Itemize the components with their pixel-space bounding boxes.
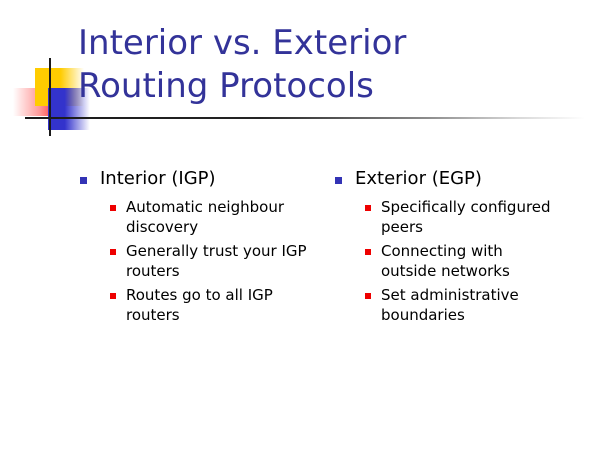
column-exterior: Exterior (EGP) Specifically configured p… — [335, 168, 600, 330]
slide-title: Interior vs. Exterior Routing Protocols — [78, 22, 568, 108]
bullet-list-exterior: Specifically configured peers Connecting… — [335, 198, 600, 325]
content-columns: Interior (IGP) Automatic neighbour disco… — [0, 168, 600, 330]
slide: Interior vs. Exterior Routing Protocols … — [0, 0, 600, 450]
list-item-label: Set administrative boundaries — [381, 286, 556, 325]
square-bullet-icon — [365, 249, 371, 255]
square-bullet-icon — [110, 205, 116, 211]
heading-label: Interior (IGP) — [100, 168, 216, 190]
list-item: Set administrative boundaries — [365, 286, 600, 325]
title-underline-rule — [25, 117, 585, 119]
list-item: Generally trust your IGP routers — [110, 242, 335, 281]
column-interior: Interior (IGP) Automatic neighbour disco… — [0, 168, 335, 330]
square-bullet-icon — [365, 205, 371, 211]
square-bullet-icon — [335, 177, 342, 184]
bullet-list-interior: Automatic neighbour discovery Generally … — [80, 198, 335, 325]
list-item-label: Connecting with outside networks — [381, 242, 556, 281]
list-item: Automatic neighbour discovery — [110, 198, 335, 237]
list-item: Specifically configured peers — [365, 198, 600, 237]
list-item: Connecting with outside networks — [365, 242, 600, 281]
square-bullet-icon — [110, 249, 116, 255]
square-bullet-icon — [110, 293, 116, 299]
list-item-label: Generally trust your IGP routers — [126, 242, 321, 281]
column-heading-exterior: Exterior (EGP) — [335, 168, 600, 190]
list-item: Routes go to all IGP routers — [110, 286, 335, 325]
list-item-label: Routes go to all IGP routers — [126, 286, 321, 325]
column-heading-interior: Interior (IGP) — [80, 168, 335, 190]
heading-label: Exterior (EGP) — [355, 168, 482, 190]
logo-vertical-line — [49, 58, 51, 136]
square-bullet-icon — [80, 177, 87, 184]
list-item-label: Specifically configured peers — [381, 198, 556, 237]
square-bullet-icon — [365, 293, 371, 299]
list-item-label: Automatic neighbour discovery — [126, 198, 321, 237]
